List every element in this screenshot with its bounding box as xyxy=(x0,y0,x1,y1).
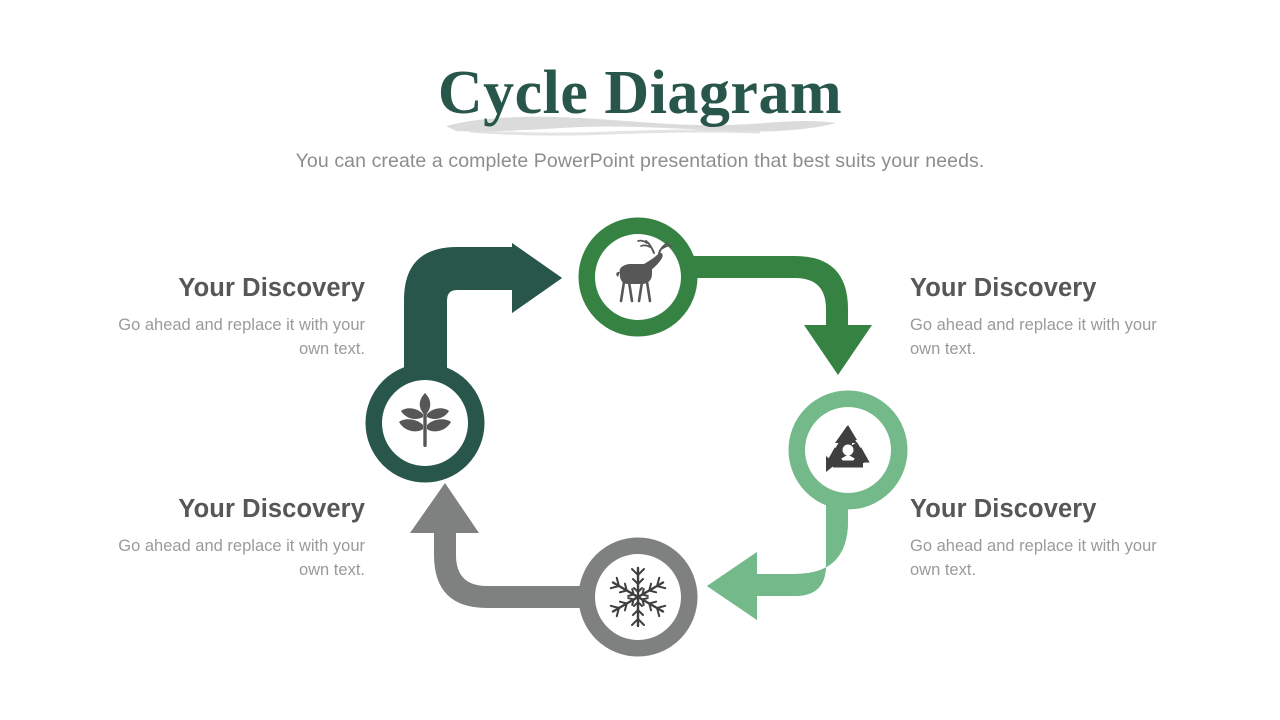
item-body: Go ahead and replace it with your own te… xyxy=(910,313,1160,361)
item-top-left: Your Discovery Go ahead and replace it w… xyxy=(115,272,365,361)
node-leaf[interactable] xyxy=(374,372,476,474)
page-title: Cycle Diagram xyxy=(438,54,842,132)
item-bottom-right: Your Discovery Go ahead and replace it w… xyxy=(910,493,1160,582)
node-recycle[interactable] xyxy=(797,399,899,501)
item-bottom-left: Your Discovery Go ahead and replace it w… xyxy=(115,493,365,582)
node-snowflake[interactable] xyxy=(587,546,689,648)
slide-canvas: Cycle Diagram You can create a complete … xyxy=(0,0,1280,720)
item-heading: Your Discovery xyxy=(115,272,365,304)
item-body: Go ahead and replace it with your own te… xyxy=(910,534,1160,582)
node-deer[interactable] xyxy=(587,226,689,328)
item-heading: Your Discovery xyxy=(910,272,1160,304)
item-body: Go ahead and replace it with your own te… xyxy=(115,313,365,361)
item-heading: Your Discovery xyxy=(115,493,365,525)
item-heading: Your Discovery xyxy=(910,493,1160,525)
item-body: Go ahead and replace it with your own te… xyxy=(115,534,365,582)
item-top-right: Your Discovery Go ahead and replace it w… xyxy=(910,272,1160,361)
